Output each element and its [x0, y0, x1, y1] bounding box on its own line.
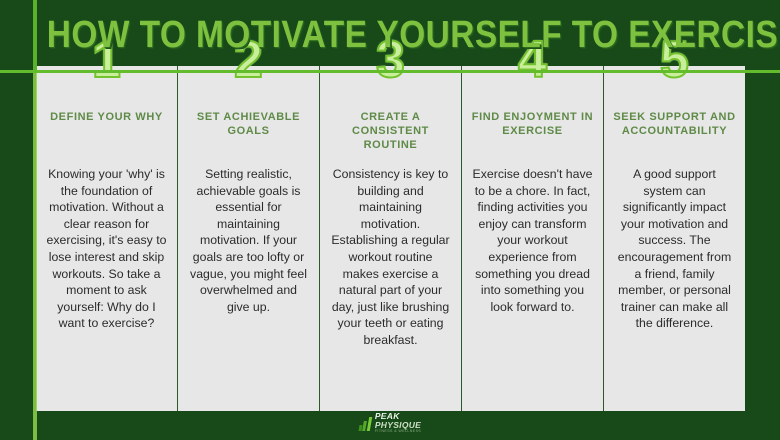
step-body-1: Knowing your 'why' is the foundation of …: [45, 166, 168, 332]
step-card-2: 2 SET ACHIEVABLE GOALS Setting realistic…: [178, 66, 320, 411]
step-card-5: 5 SEEK SUPPORT AND ACCOUNTABILITY A good…: [604, 66, 745, 411]
brand-tagline: FITNESS & WELLNESS: [375, 430, 421, 434]
brand-name: PEAK PHYSIQUE FITNESS & WELLNESS: [375, 412, 421, 434]
step-body-5: A good support system can significantly …: [613, 166, 736, 332]
step-card-4: 4 FIND ENJOYMENT IN EXERCISE Exercise do…: [462, 66, 604, 411]
step-body-3: Consistency is key to building and maint…: [329, 166, 452, 349]
step-heading-4: FIND ENJOYMENT IN EXERCISE: [471, 110, 594, 152]
brand-logo: PEAK PHYSIQUE FITNESS & WELLNESS: [0, 411, 780, 435]
step-body-4: Exercise doesn't have to be a chore. In …: [471, 166, 594, 315]
step-heading-5: SEEK SUPPORT AND ACCOUNTABILITY: [613, 110, 736, 152]
brand-name-line2: PHYSIQUE: [375, 421, 421, 430]
step-card-1: 1 DEFINE YOUR WHY Knowing your 'why' is …: [36, 66, 178, 411]
left-accent-line-bottom: [33, 70, 37, 440]
left-accent-line-top: [33, 0, 37, 72]
bar-chart-icon: [359, 415, 371, 431]
steps-panel: 1 DEFINE YOUR WHY Knowing your 'why' is …: [36, 66, 745, 411]
step-body-2: Setting realistic, achievable goals is e…: [187, 166, 310, 315]
top-accent-rule: [0, 70, 780, 73]
page-title: HOW TO MOTIVATE YOURSELF TO EXERCISE: [47, 16, 733, 54]
step-heading-3: CREATE A CONSISTENT ROUTINE: [329, 110, 452, 152]
step-card-3: 3 CREATE A CONSISTENT ROUTINE Consistenc…: [320, 66, 462, 411]
step-heading-2: SET ACHIEVABLE GOALS: [187, 110, 310, 152]
step-heading-1: DEFINE YOUR WHY: [50, 110, 163, 152]
